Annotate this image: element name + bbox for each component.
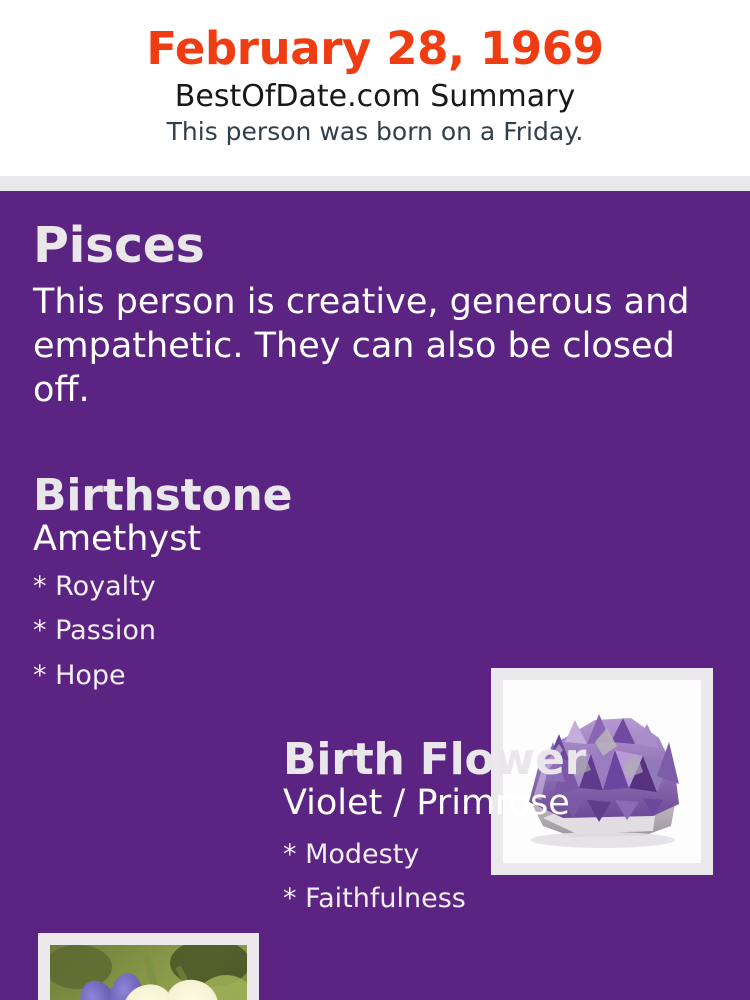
body-panel: Pisces This person is creative, generous…: [0, 191, 750, 1000]
birth-flower-title: Birth Flower: [283, 738, 733, 783]
birthstone-title: Birthstone: [33, 474, 473, 519]
card-header: February 28, 1969 BestOfDate.com Summary…: [0, 0, 750, 176]
summary-card: February 28, 1969 BestOfDate.com Summary…: [0, 0, 750, 1000]
zodiac-section: Pisces This person is creative, generous…: [33, 221, 713, 412]
page-title-date: February 28, 1969: [0, 0, 750, 73]
violet-primrose-photo: [50, 945, 247, 1000]
list-item: * Passion: [33, 609, 473, 654]
birthstone-name: Amethyst: [33, 519, 473, 559]
birth-flower-image-frame: [38, 933, 259, 1000]
list-item: * Hope: [33, 654, 473, 699]
list-item: * Faithfulness: [283, 877, 733, 922]
birth-flower-section: Birth Flower Violet / Primrose * Modesty…: [283, 738, 733, 922]
zodiac-description: This person is creative, generous and em…: [33, 270, 705, 412]
site-name-label: BestOfDate.com Summary: [0, 73, 750, 114]
zodiac-sign-title: Pisces: [33, 221, 713, 270]
list-item: * Modesty: [283, 833, 733, 878]
birthstone-trait-list: * Royalty * Passion * Hope: [33, 559, 473, 699]
birth-flower-name: Violet / Primrose: [283, 783, 733, 823]
birth-day-note: This person was born on a Friday.: [0, 113, 750, 146]
header-divider: [0, 176, 750, 191]
birthstone-section: Birthstone Amethyst * Royalty * Passion …: [33, 474, 473, 699]
list-item: * Royalty: [33, 565, 473, 610]
birth-flower-trait-list: * Modesty * Faithfulness: [283, 823, 733, 923]
violet-and-primrose-icon: [50, 945, 247, 1000]
